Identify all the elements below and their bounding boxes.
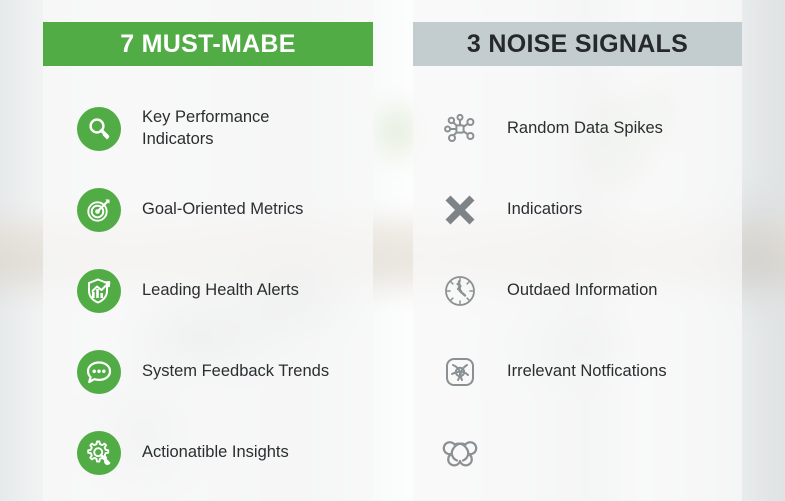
magnifier-icon — [74, 104, 124, 154]
right-panel-header: 3 NOISE SIGNALS — [413, 22, 742, 66]
list-item[interactable]: Irrelevant Notfications — [413, 331, 742, 412]
tangled-square-icon — [435, 347, 485, 397]
right-panel-list: Random Data Spikes Indicatiors — [413, 88, 742, 493]
knot-icon — [435, 428, 485, 478]
cross-x-icon — [435, 185, 485, 235]
list-item-label: Random Data Spikes — [485, 118, 663, 140]
list-item[interactable]: Random Data Spikes — [413, 88, 742, 169]
list-item[interactable]: Goal-Oriented Metrics — [43, 169, 373, 250]
left-panel-title: 7 MUST-MABE — [120, 30, 296, 59]
list-item[interactable]: Key Performance Indicators — [43, 88, 373, 169]
list-item[interactable]: Actionatible Insights — [43, 412, 373, 493]
left-panel-list: Key Performance Indicators Goal-Oriented… — [43, 88, 373, 493]
list-item-label: Indicatiors — [485, 199, 582, 221]
list-item-label: Key Performance Indicators — [124, 107, 269, 151]
clock-icon — [435, 266, 485, 316]
list-item-label: Goal-Oriented Metrics — [124, 199, 303, 221]
list-item-label: Irrelevant Notfications — [485, 361, 667, 383]
list-item[interactable]: Outdaed Information — [413, 250, 742, 331]
list-item[interactable]: Leading Health Alerts — [43, 250, 373, 331]
list-item[interactable]: Indicatiors — [413, 169, 742, 250]
left-panel-header: 7 MUST-MABE — [43, 22, 373, 66]
list-item-label: Leading Health Alerts — [124, 280, 299, 302]
target-arrow-icon — [74, 185, 124, 235]
gear-wrench-icon — [74, 428, 124, 478]
list-item-label: Actionatible Insights — [124, 442, 289, 464]
network-nodes-icon — [435, 104, 485, 154]
speech-bubble-icon — [74, 347, 124, 397]
list-item[interactable] — [413, 412, 742, 493]
list-item-label: System Feedback Trends — [124, 361, 329, 383]
left-panel: Key Performance Indicators Goal-Oriented… — [43, 0, 373, 501]
shield-chart-icon — [74, 266, 124, 316]
list-item-label: Outdaed Information — [485, 280, 657, 302]
list-item[interactable]: System Feedback Trends — [43, 331, 373, 412]
right-panel: Random Data Spikes Indicatiors — [413, 0, 742, 501]
right-panel-title: 3 NOISE SIGNALS — [467, 30, 688, 59]
